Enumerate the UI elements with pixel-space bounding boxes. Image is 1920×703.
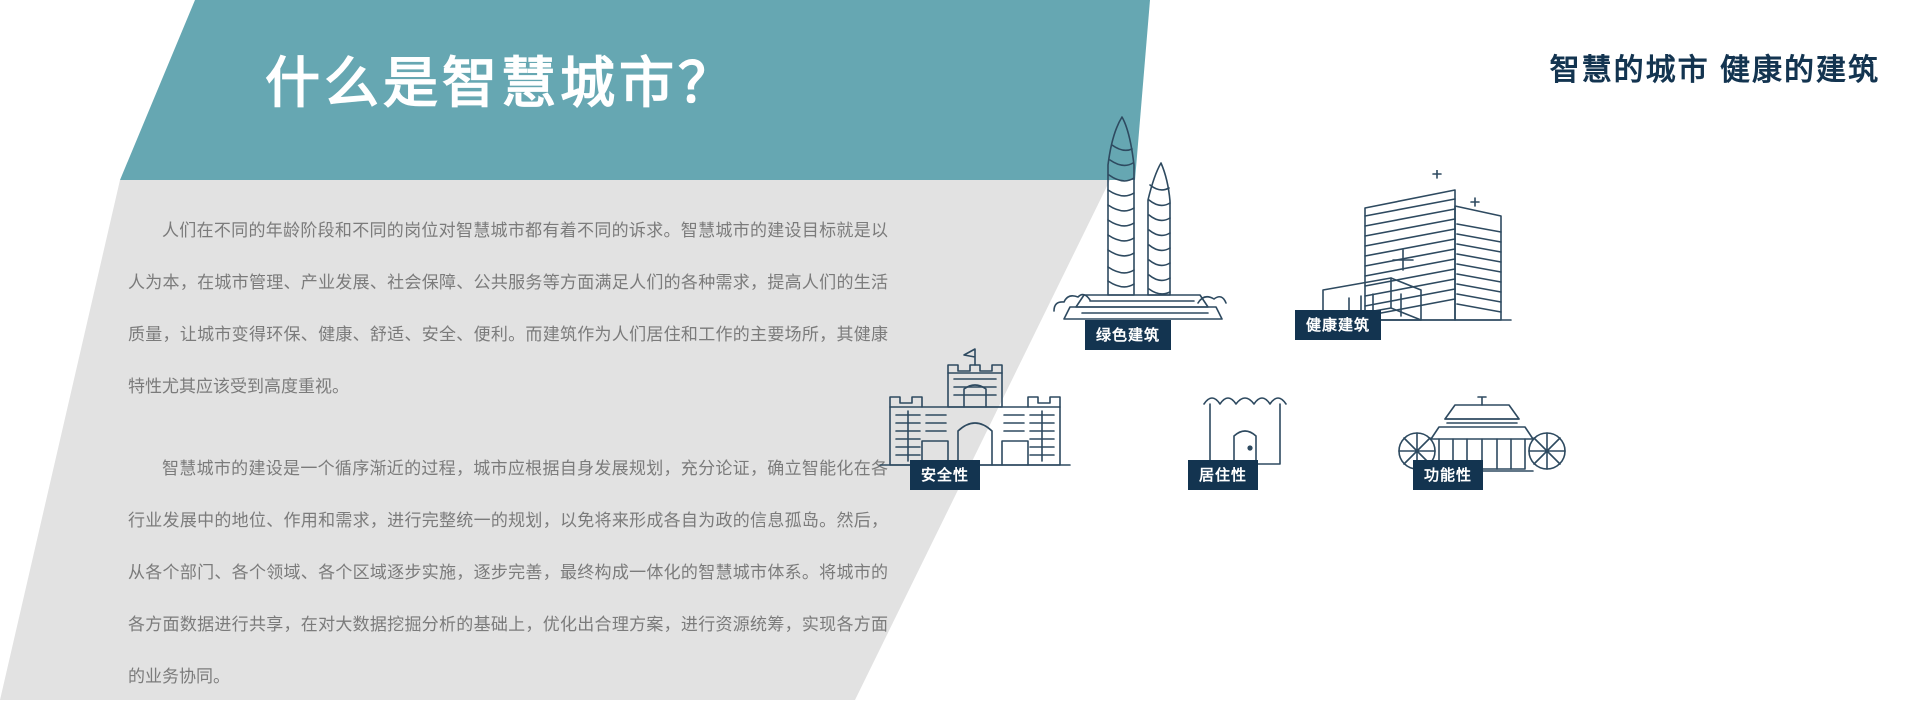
- right-heading: 智慧的城市 健康的建筑: [1550, 45, 1880, 89]
- body-paragraph-2: 智慧城市的建设是一个循序渐近的过程，城市应根据自身发展规划，充分论证，确立智能化…: [128, 443, 888, 703]
- page-title: 什么是智慧城市？: [265, 38, 737, 118]
- illustration-area: 绿色建筑 健康建筑 安全性 居住性 功能性: [1020, 95, 1900, 615]
- badge-functionality: 功能性: [1413, 460, 1483, 490]
- badge-livability: 居住性: [1188, 460, 1258, 490]
- badge-safety: 安全性: [910, 460, 980, 490]
- castle-icon: [860, 345, 1090, 475]
- body-paragraph-1: 人们在不同的年龄阶段和不同的岗位对智慧城市都有着不同的诉求。智慧城市的建设目标就…: [128, 205, 888, 413]
- slide-root: 什么是智慧城市？ 智慧的城市 健康的建筑 人们在不同的年龄阶段和不同的岗位对智慧…: [0, 0, 1920, 700]
- twin-towers-icon: [1030, 105, 1260, 325]
- body-copy: 人们在不同的年龄阶段和不同的岗位对智慧城市都有着不同的诉求。智慧城市的建设目标就…: [128, 205, 888, 703]
- badge-green-building: 绿色建筑: [1085, 320, 1171, 350]
- badge-health-building: 健康建筑: [1295, 310, 1381, 340]
